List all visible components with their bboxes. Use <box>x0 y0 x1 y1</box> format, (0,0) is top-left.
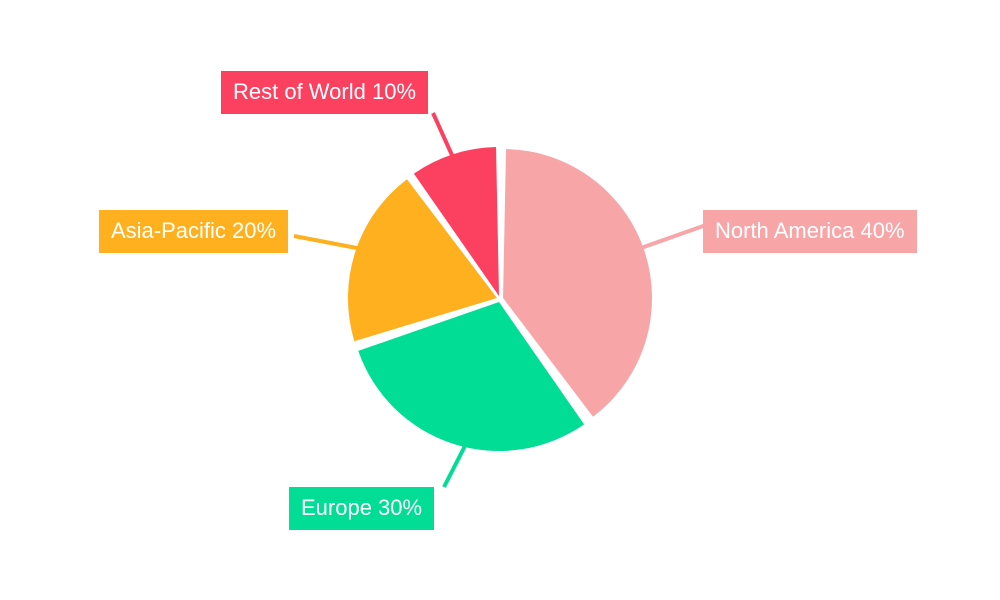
pie-slices <box>348 147 652 451</box>
leader-line-asia-pacific <box>294 236 362 249</box>
pie-label-asia-pacific: Asia-Pacific 20% <box>99 210 288 253</box>
pie-chart-canvas <box>0 0 1000 600</box>
pie-label-rest-of-world-text: Rest of World 10% <box>233 79 416 104</box>
pie-label-rest-of-world: Rest of World 10% <box>221 71 428 114</box>
leader-line-europe <box>444 440 468 487</box>
pie-label-asia-pacific-text: Asia-Pacific 20% <box>111 218 276 243</box>
pie-label-europe: Europe 30% <box>289 487 434 530</box>
pie-label-north-america-text: North America 40% <box>715 218 905 243</box>
pie-label-north-america: North America 40% <box>703 210 917 253</box>
pie-label-europe-text: Europe 30% <box>301 495 422 520</box>
pie-chart: North America 40% Europe 30% Asia-Pacifi… <box>0 0 1000 600</box>
leader-line-north-america <box>641 225 706 248</box>
